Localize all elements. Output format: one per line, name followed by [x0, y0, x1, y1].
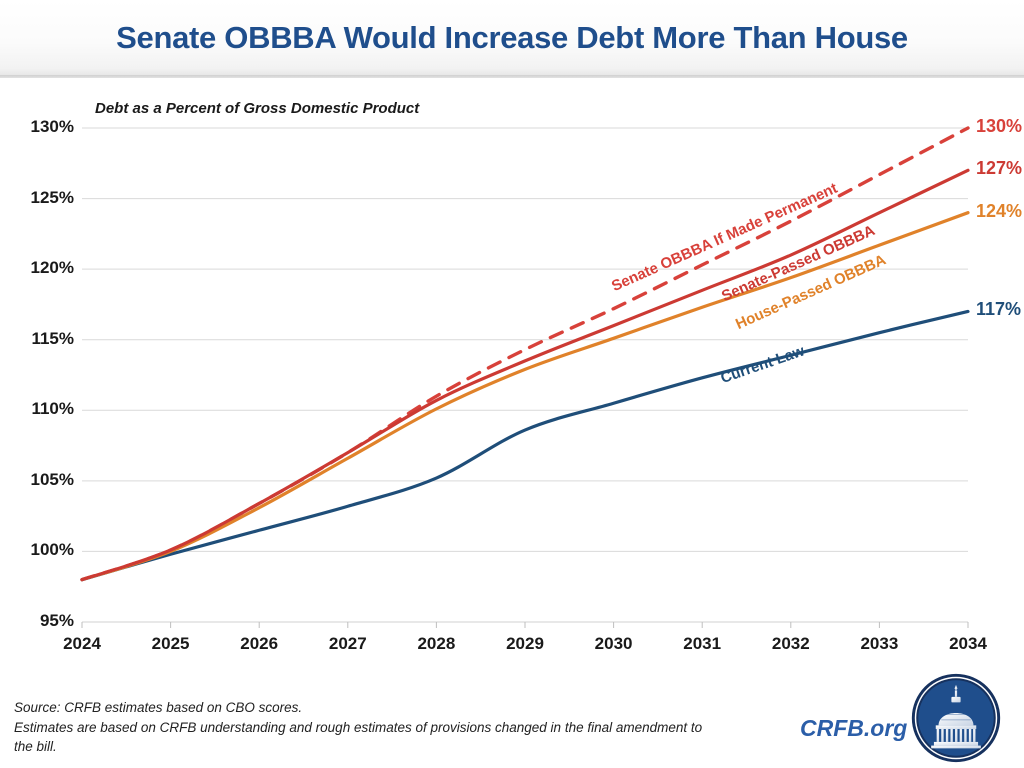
y-axis-tick-label: 130% [4, 117, 74, 137]
end-value-label: 117% [976, 299, 1021, 320]
y-axis-tick-label: 105% [4, 470, 74, 490]
end-value-label: 130% [976, 116, 1022, 137]
gridlines [82, 128, 968, 622]
x-axis-tick-label: 2032 [756, 634, 826, 654]
y-axis-tick-label: 100% [4, 540, 74, 560]
x-axis-tick-label: 2031 [667, 634, 737, 654]
capitol-dome-logo [910, 672, 1002, 764]
x-axis-tick-label: 2024 [47, 634, 117, 654]
end-value-label: 124% [976, 201, 1022, 222]
series-line-house-passed-obbba [82, 213, 968, 580]
x-axis-tick-label: 2028 [401, 634, 471, 654]
x-axis-tick-label: 2033 [844, 634, 914, 654]
end-value-label: 127% [976, 158, 1022, 179]
x-axis-tick-label: 2030 [579, 634, 649, 654]
chart-page: Senate OBBBA Would Increase Debt More Th… [0, 0, 1024, 768]
x-axis-tick-label: 2025 [136, 634, 206, 654]
estimates-note-line: Estimates are based on CRFB understandin… [14, 718, 714, 757]
y-axis-tick-label: 120% [4, 258, 74, 278]
footnote-block: Source: CRFB estimates based on CBO scor… [14, 698, 714, 757]
x-axis-tick-label: 2029 [490, 634, 560, 654]
y-axis-tick-label: 115% [4, 329, 74, 349]
source-line: Source: CRFB estimates based on CBO scor… [14, 698, 714, 718]
series-line-current-law [82, 311, 968, 579]
x-tick-marks [82, 622, 968, 628]
series-line-senate-passed-obbba [82, 170, 968, 579]
brand-label[interactable]: CRFB.org [800, 715, 907, 742]
y-axis-tick-label: 110% [4, 399, 74, 419]
x-axis-tick-label: 2027 [313, 634, 383, 654]
x-axis-tick-label: 2034 [933, 634, 1003, 654]
y-axis-tick-label: 95% [4, 611, 74, 631]
y-axis-tick-label: 125% [4, 188, 74, 208]
x-axis-tick-label: 2026 [224, 634, 294, 654]
